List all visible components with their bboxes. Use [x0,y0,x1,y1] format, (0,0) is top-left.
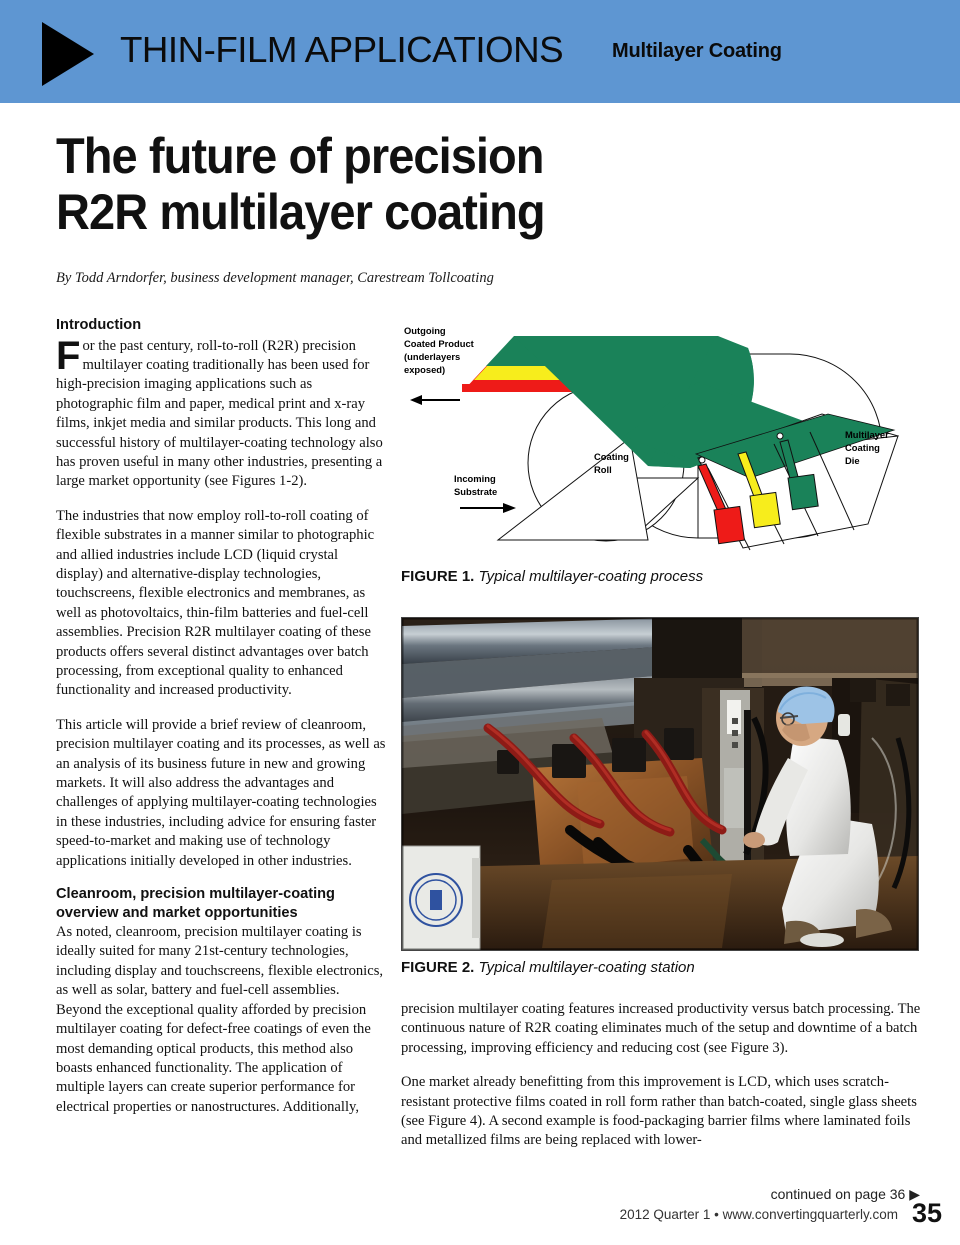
figure-2-caption-text: Typical multilayer-coating station [479,959,695,976]
right-text-column: precision multilayer coating features in… [401,1000,921,1166]
footer-separator-icon: • [714,1207,719,1222]
figure-1-diagram: Outgoing Coated Product (underlayers exp… [398,318,922,568]
section-heading-cleanroom-line-2: overview and market opportunities [56,905,386,923]
label-outgoing-line-3: (underlayers [404,351,460,362]
paragraph-lcd-market: One market already benefitting from this… [401,1073,921,1151]
play-triangle-icon [42,22,94,86]
label-die-line-1: Multilayer [845,429,889,440]
page-title-line-1: The future of precision [56,128,714,184]
label-die-line-2: Coating [845,442,880,453]
header-subtitle: Multilayer Coating [612,40,782,63]
figure-1-caption: FIGURE 1. Typical multilayer-coating pro… [401,568,703,585]
drop-cap: F [56,337,82,373]
figure-2-caption: FIGURE 2. Typical multilayer-coating sta… [401,959,695,976]
page-number: 35 [912,1198,942,1229]
paragraph-productivity: precision multilayer coating features in… [401,1000,921,1058]
label-outgoing-line-2: Coated Product [404,338,474,349]
section-heading-cleanroom-line-1: Cleanroom, precision multilayer-coating [56,886,386,904]
paragraph-intro-text: or the past century, roll-to-roll (R2R) … [56,338,383,490]
figure-2-photo [401,617,919,951]
label-coating-roll-line-1: Coating [594,451,629,462]
left-text-column: Introduction For the past century, roll-… [56,317,386,1132]
paragraph-industries: The industries that now employ roll-to-r… [56,507,386,701]
page-title: The future of precision R2R multilayer c… [56,128,714,240]
paragraph-cleanroom: As noted, cleanroom, precision multilaye… [56,923,386,1117]
figure-1-caption-number: FIGURE 1. [401,568,474,585]
reservoir-green [788,474,818,509]
figure-2-caption-number: FIGURE 2. [401,959,474,976]
header-kicker: THIN-FILM APPLICATIONS [120,29,563,71]
footer-issue: 2012 Quarter 1 [620,1207,711,1222]
label-incoming-line-2: Substrate [454,486,497,497]
footer-website[interactable]: www.convertingquarterly.com [723,1207,898,1222]
coating-station-photo-svg [402,618,918,950]
page-title-line-2: R2R multilayer coating [56,184,714,240]
reservoir-yellow [750,492,780,527]
article-byline: By Todd Arndorfer, business development … [56,270,676,287]
footer-info: 2012 Quarter 1 • www.convertingquarterly… [620,1207,898,1222]
paragraph-intro: For the past century, roll-to-roll (R2R)… [56,337,386,492]
paragraph-article-scope: This article will provide a brief review… [56,716,386,871]
label-outgoing-line-4: exposed) [404,364,445,375]
reservoir-red [714,506,744,543]
label-outgoing-line-1: Outgoing [404,325,446,336]
continued-on-page[interactable]: continued on page 36 ▶ [771,1186,920,1203]
label-die-line-3: Die [845,455,860,466]
section-heading-introduction: Introduction [56,317,386,335]
page-header-bar: THIN-FILM APPLICATIONS Multilayer Coatin… [0,0,960,103]
figure-1-caption-text: Typical multilayer-coating process [479,568,704,585]
multilayer-coating-process-svg: Outgoing Coated Product (underlayers exp… [398,318,922,568]
continued-label: continued on page 36 [771,1186,906,1202]
label-incoming-line-1: Incoming [454,473,496,484]
label-coating-roll-line-2: Roll [594,464,612,475]
